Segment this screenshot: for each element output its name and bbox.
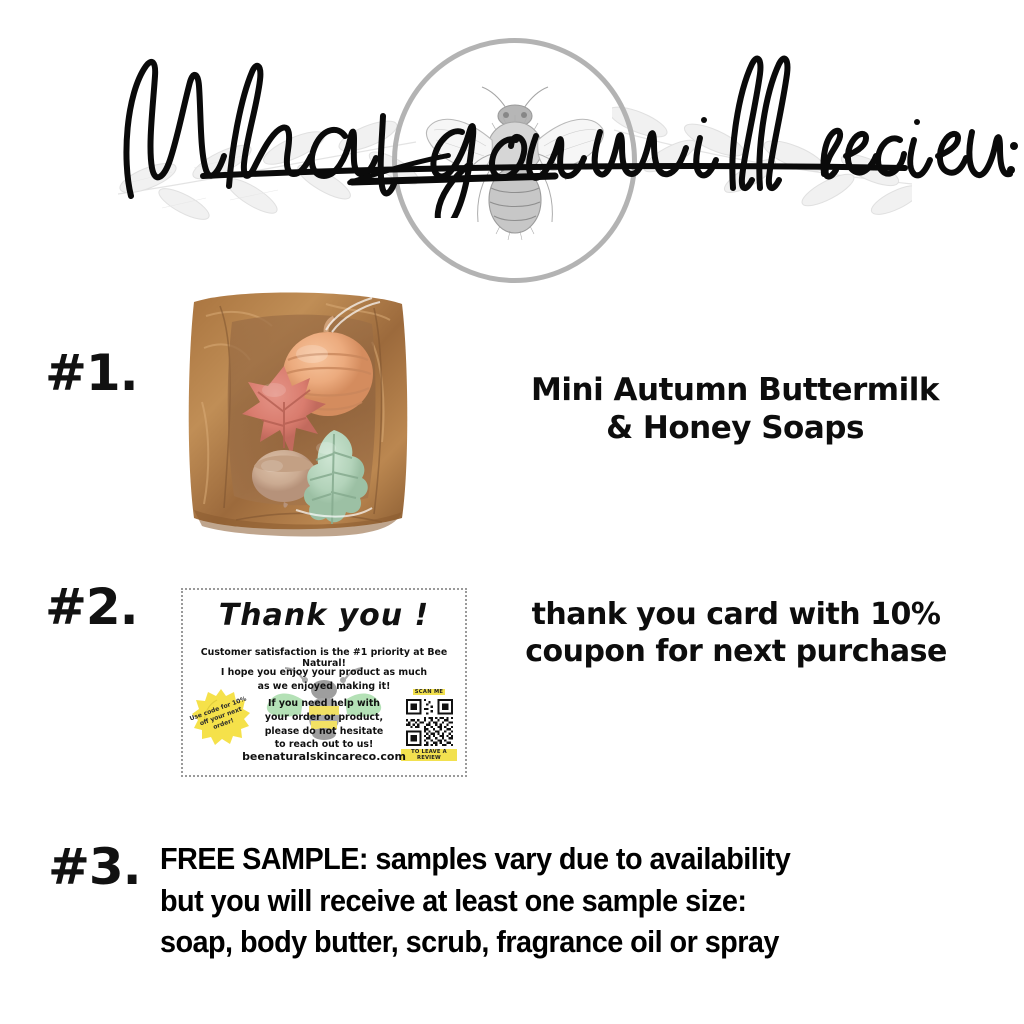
item-3-description-line-3: soap, body butter, scrub, fragrance oil …: [160, 921, 904, 963]
item-1-description-line-2: & Honey Soaps: [500, 410, 970, 448]
item-1-description-line-1: Mini Autumn Buttermilk: [500, 372, 970, 410]
thank-you-card-photo: Thank you ! Customer satisfaction is the…: [181, 588, 467, 777]
coupon-badge-label: Use code for 10% off your next order!: [189, 695, 254, 738]
item-1-description: Mini Autumn Buttermilk & Honey Soaps: [500, 372, 970, 448]
item-2-description-line-1: thank you card with 10%: [498, 597, 974, 634]
item-2-description-line-2: coupon for next purchase: [498, 634, 974, 671]
card-body-line-1: I hope you enjoy your product as much: [183, 666, 465, 680]
autumn-soap-package-photo: [176, 282, 420, 538]
header-section: [0, 0, 1024, 285]
item-3-description-line-1: FREE SAMPLE: samples vary due to availab…: [160, 838, 904, 880]
item-2-number: #2.: [45, 578, 138, 636]
qr-scan-label: SCAN ME: [413, 689, 446, 695]
qr-code-icon: [406, 699, 453, 746]
item-3-description-line-2: but you will receive at least one sample…: [160, 880, 904, 922]
card-website-url: beenaturalskincareco.com: [183, 750, 465, 763]
item-3-number: #3.: [48, 838, 141, 896]
qr-code-block: SCAN ME: [401, 680, 457, 752]
item-3-description: FREE SAMPLE: samples vary due to availab…: [160, 838, 904, 963]
item-1-number: #1.: [45, 344, 138, 402]
page-title-script: [0, 28, 1024, 218]
item-2-description: thank you card with 10% coupon for next …: [498, 597, 974, 670]
card-title: Thank you !: [183, 598, 465, 633]
coupon-badge: Use code for 10% off your next order!: [191, 688, 251, 746]
promo-graphic: #1.: [0, 0, 1024, 1024]
